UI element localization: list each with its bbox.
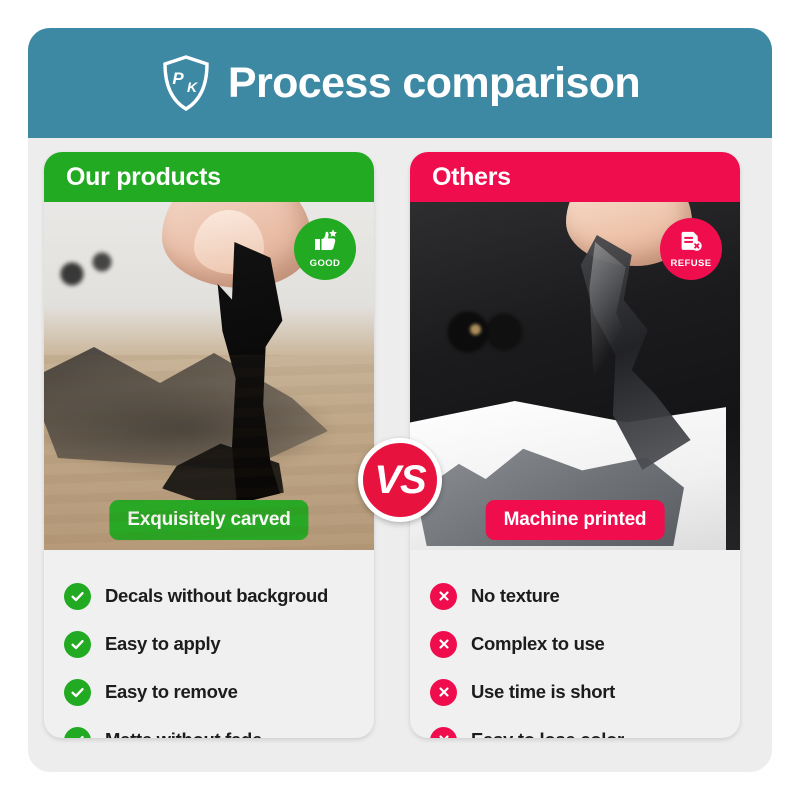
- list-item-label: Easy to apply: [105, 633, 220, 655]
- good-badge: GOOD: [294, 218, 356, 280]
- panel-left-caption: Exquisitely carved: [109, 500, 308, 540]
- comparison-card: P K Process comparison Our products: [28, 28, 772, 772]
- shield-pk-logo-icon: P K: [160, 54, 212, 112]
- refuse-badge: REFUSE: [660, 218, 722, 280]
- list-item-label: Easy to lose color: [471, 729, 624, 738]
- comparison-body: Our products: [28, 138, 772, 772]
- panel-right-feature-list: No texture Complex to use Use time is sh…: [410, 550, 740, 738]
- cross-circle-icon: [430, 679, 457, 706]
- page-title: Process comparison: [228, 62, 640, 105]
- list-item-label: Complex to use: [471, 633, 605, 655]
- list-item-label: No texture: [471, 585, 560, 607]
- svg-text:K: K: [187, 79, 198, 95]
- cross-circle-icon: [430, 631, 457, 658]
- photo-shadow-decor: [44, 383, 334, 475]
- document-reject-icon: [679, 230, 703, 258]
- panel-left-heading: Our products: [44, 152, 374, 202]
- decal-base-decor: [162, 438, 284, 508]
- panel-our-products: Our products: [44, 152, 374, 738]
- page-header: P K Process comparison: [28, 28, 772, 138]
- cross-circle-icon: [430, 583, 457, 610]
- infographic-canvas: P K Process comparison Our products: [0, 0, 800, 800]
- list-item: Use time is short: [430, 668, 740, 716]
- list-item: Matte without fade: [64, 716, 374, 738]
- check-circle-icon: [64, 583, 91, 610]
- panel-right-heading: Others: [410, 152, 740, 202]
- check-circle-icon: [64, 727, 91, 739]
- versus-label: VS: [374, 460, 425, 500]
- thumbs-up-star-icon: [312, 229, 338, 258]
- refuse-badge-label: REFUSE: [671, 259, 712, 269]
- panel-right-photo: REFUSE Machine printed: [410, 202, 740, 550]
- list-item-label: Easy to remove: [105, 681, 238, 703]
- check-circle-icon: [64, 679, 91, 706]
- camera-lens-decor: [438, 294, 534, 370]
- list-item: Decals without backgroud: [64, 572, 374, 620]
- svg-text:P: P: [172, 69, 184, 88]
- cross-circle-icon: [430, 727, 457, 739]
- list-item: No texture: [430, 572, 740, 620]
- decal-sheet-decor: [44, 320, 328, 470]
- panel-left-photo: GOOD Exquisitely carved: [44, 202, 374, 550]
- list-item: Complex to use: [430, 620, 740, 668]
- list-item: Easy to apply: [64, 620, 374, 668]
- panel-left-feature-list: Decals without backgroud Easy to apply E…: [44, 550, 374, 738]
- panel-right-caption: Machine printed: [486, 500, 665, 540]
- good-badge-label: GOOD: [310, 259, 341, 269]
- list-item: Easy to lose color: [430, 716, 740, 738]
- list-item-label: Use time is short: [471, 681, 615, 703]
- check-circle-icon: [64, 631, 91, 658]
- list-item-label: Matte without fade: [105, 729, 262, 738]
- list-item: Easy to remove: [64, 668, 374, 716]
- versus-badge: VS: [358, 438, 442, 522]
- list-item-label: Decals without backgroud: [105, 585, 328, 607]
- panel-others: Others: [410, 152, 740, 738]
- lens-highlight-decor: [470, 324, 481, 335]
- scissors-decor: [50, 228, 128, 296]
